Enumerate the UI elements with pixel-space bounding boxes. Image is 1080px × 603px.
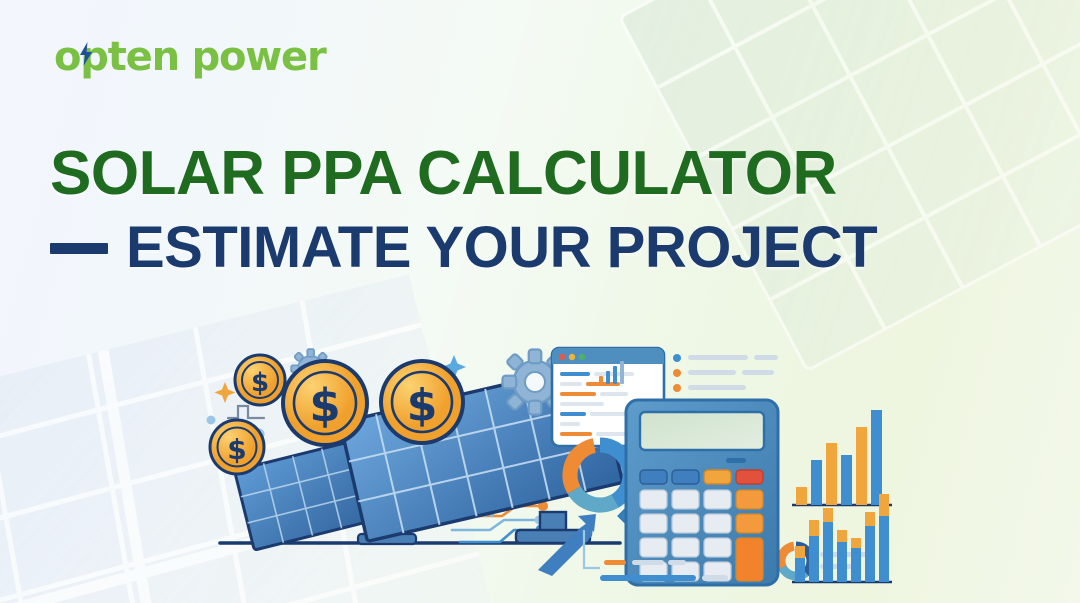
headline-line-2: ESTIMATE YOUR PROJECT [126, 219, 877, 277]
headline-block: SOLAR PPA CALCULATOR ESTIMATE YOUR PROJE… [50, 143, 1040, 277]
svg-text:$: $ [407, 380, 438, 431]
svg-text:$: $ [309, 379, 340, 432]
bullet-list [673, 354, 778, 392]
coin-dollar-2: $ [210, 420, 264, 474]
coin-dollar-4: $ [381, 361, 463, 443]
coin-dollar-1: $ [235, 355, 285, 405]
svg-text:$: $ [227, 433, 246, 466]
lightning-bolt-icon [79, 42, 93, 66]
yellow-dot [569, 354, 575, 360]
banner: opten power SOLAR PPA CALCULATOR ESTIMAT… [0, 0, 1080, 603]
headline-line-2-row: ESTIMATE YOUR PROJECT [50, 219, 1040, 277]
calculator-screen [640, 412, 764, 450]
coin-dollar-3: $ [283, 361, 367, 445]
green-dot [579, 354, 585, 360]
svg-text:$: $ [251, 368, 269, 398]
pulse-line [228, 406, 264, 418]
red-dot [559, 354, 565, 360]
bar-chart-grouped [792, 410, 892, 505]
headline-line-1: SOLAR PPA CALCULATOR [50, 143, 1040, 205]
solar-ppa-calculator-illustration: $ $ $ $ [180, 330, 900, 590]
calculator [626, 400, 778, 585]
em-dash-rule [50, 243, 108, 254]
brand-logo[interactable]: opten power [54, 33, 326, 81]
sparkle-orange [215, 382, 236, 403]
brand-logo-text: opten power [54, 37, 326, 77]
